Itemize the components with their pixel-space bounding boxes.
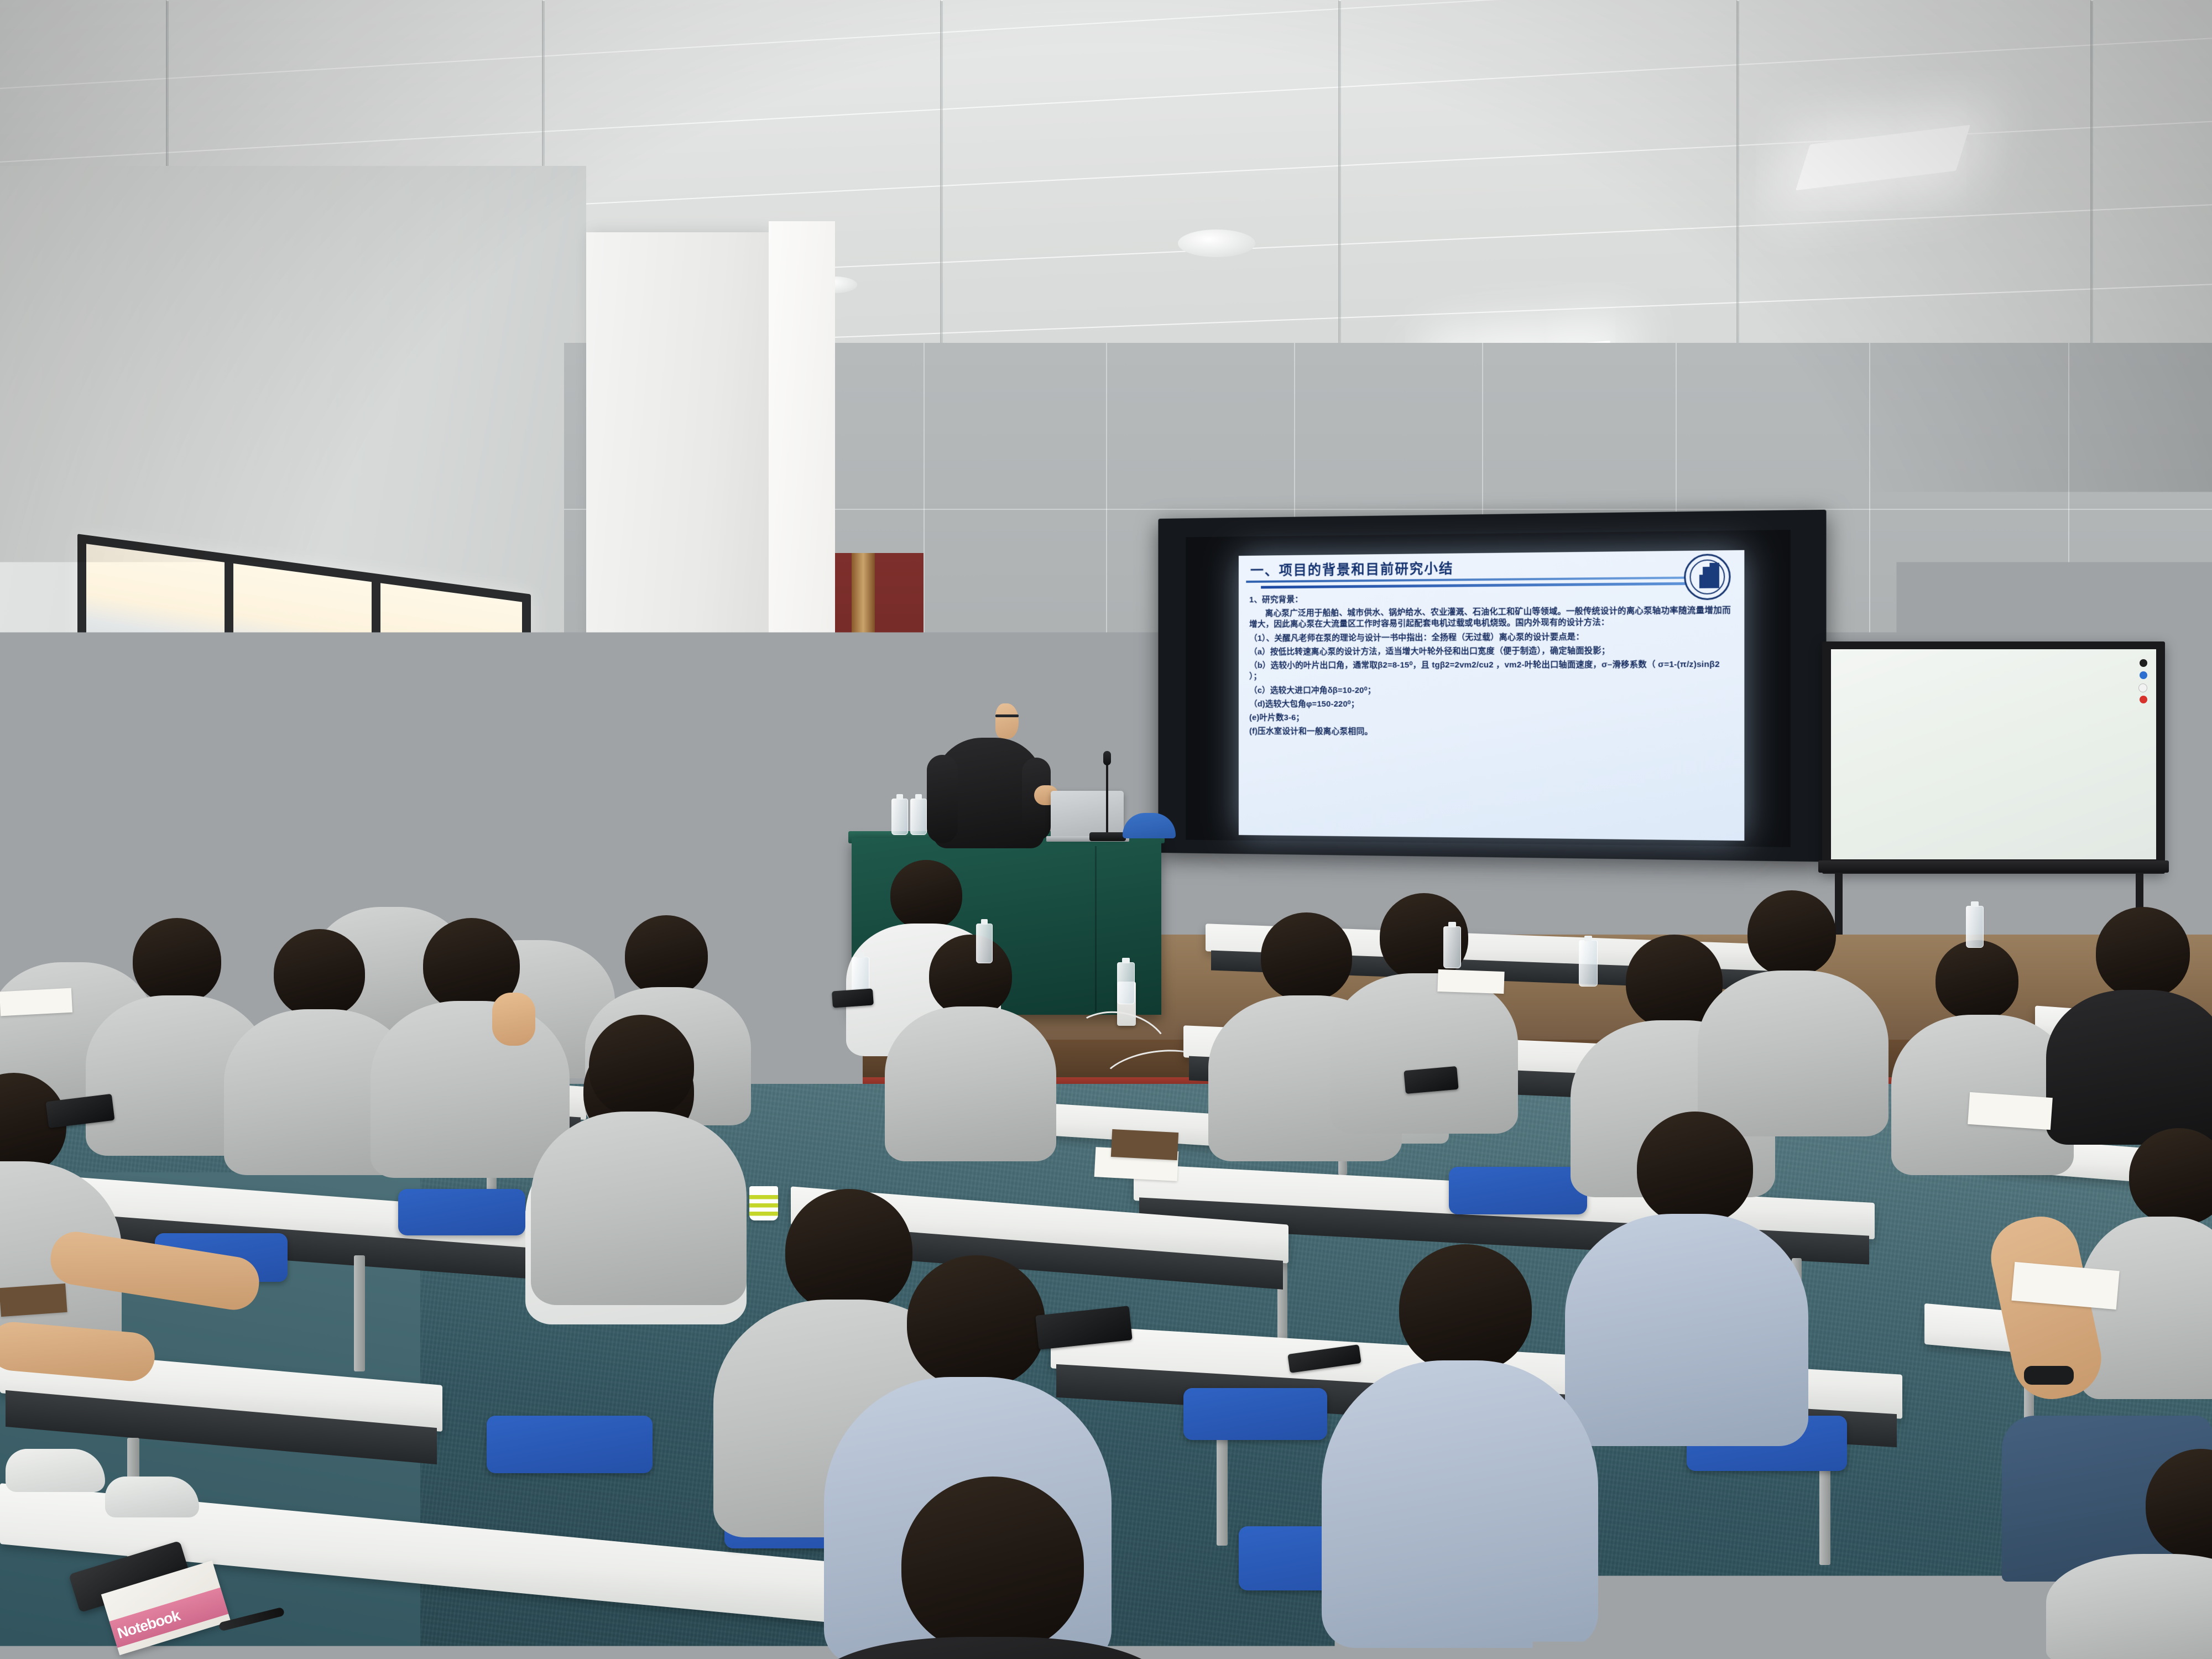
slide-title: 一、项目的背景和目前研究小结 xyxy=(1250,558,1454,580)
person-head xyxy=(2096,907,2190,998)
magnet-icon xyxy=(2140,671,2147,679)
water-bottle xyxy=(1117,962,1135,1004)
slide-point-f: (f)压水室设计和一般离心泵相同。 xyxy=(1249,726,1733,739)
person-torso xyxy=(885,1006,1056,1161)
person-head xyxy=(1399,1244,1532,1373)
water-bottle xyxy=(891,799,908,835)
chair-back[interactable] xyxy=(1183,1388,1327,1440)
person-torso xyxy=(2046,1554,2212,1659)
paper-cup xyxy=(749,1186,778,1220)
person-head xyxy=(589,1015,694,1118)
folder xyxy=(0,1284,67,1317)
shoe xyxy=(6,1449,105,1492)
notepad xyxy=(0,988,72,1016)
person-torso xyxy=(371,1001,570,1178)
person-head xyxy=(785,1189,912,1313)
water-bottle xyxy=(1443,926,1461,968)
shoe xyxy=(420,1288,498,1323)
person-head xyxy=(625,915,708,996)
photo-scene: 一、项目的背景和目前研究小结 1、研究背景： 离心泵广泛用于船舶、城市供水、锅炉… xyxy=(0,0,2212,1659)
desk-leg xyxy=(354,1255,365,1371)
shoe xyxy=(465,1261,536,1293)
whiteboard-marker-tray xyxy=(1818,860,2169,873)
folder xyxy=(1111,1129,1178,1160)
slide-paragraph: （1）、关醒凡老师在泵的理论与设计一书中指出：全扬程（无过载）离心泵的设计要点是… xyxy=(1249,630,1733,644)
person-head xyxy=(929,935,1012,1016)
slide-section-heading: 1、研究背景： xyxy=(1249,591,1733,606)
slide-point-b: （b）选较小的叶片出口角，通常取β2=8-15⁰，且 tgβ2=2vm2/cu2… xyxy=(1249,659,1733,682)
water-bottle xyxy=(976,924,993,963)
chair-back[interactable] xyxy=(487,1416,653,1473)
structural-column-side xyxy=(769,221,835,1228)
microphone-gooseneck xyxy=(1106,763,1108,841)
water-bottle xyxy=(1966,906,1984,948)
slide-point-e: (e)叶片数3-6； xyxy=(1249,712,1733,724)
podium-cloth-fold xyxy=(1095,846,1097,1012)
person-torso xyxy=(1322,1360,1598,1648)
person-head xyxy=(907,1255,1045,1388)
chair-back[interactable] xyxy=(1449,1167,1587,1214)
smartphone[interactable] xyxy=(832,988,874,1008)
magnet-icon xyxy=(2140,659,2147,667)
person-head xyxy=(890,860,962,930)
presenter-arm xyxy=(927,755,958,843)
smartphone[interactable] xyxy=(1404,1066,1458,1094)
microphone-base xyxy=(1089,832,1126,841)
water-bottle xyxy=(1579,940,1598,987)
slide-body: 1、研究背景： 离心泵广泛用于船舶、城市供水、锅炉给水、农业灌溉、石油化工和矿山… xyxy=(1249,591,1733,742)
person-head xyxy=(1637,1112,1753,1225)
smoke-detector xyxy=(1178,229,1255,257)
slide-title-rule-accent xyxy=(1261,582,1694,589)
presentation-slide[interactable]: 一、项目的背景和目前研究小结 1、研究背景： 离心泵广泛用于船舶、城市供水、锅炉… xyxy=(1239,550,1744,841)
person-head xyxy=(0,823,61,889)
slide-point-a: （a）按低比转速离心泵的设计方法，适当增大叶轮外径和出口宽度（便于制造），确定轴… xyxy=(1249,645,1733,658)
person-head xyxy=(1261,912,1352,1001)
person-torso xyxy=(1698,971,1888,1136)
magnet-icon xyxy=(2140,696,2147,703)
whiteboard-surface[interactable] xyxy=(1831,649,2156,859)
person-head xyxy=(228,824,300,895)
microphone-head-icon xyxy=(481,770,488,784)
slide-point-c: （c）选较大进口冲角δβ=10-20⁰； xyxy=(1249,685,1733,696)
person-head xyxy=(274,929,365,1018)
person-head xyxy=(348,841,426,916)
water-bottle xyxy=(910,799,927,835)
person-head xyxy=(1747,890,1836,976)
folded-cloth xyxy=(463,836,552,851)
slide-paragraph: 离心泵广泛用于船舶、城市供水、锅炉给水、农业灌溉、石油化工和矿山等领域。一般传统… xyxy=(1249,605,1733,630)
presenter-face xyxy=(995,703,1019,739)
magnet-icon xyxy=(2138,684,2147,692)
yellow-folder xyxy=(563,801,587,835)
person-hand xyxy=(492,993,535,1046)
laptop-screen[interactable] xyxy=(1051,791,1124,837)
person-torso xyxy=(2046,990,2212,1145)
notepad xyxy=(1968,1092,2053,1130)
person-head xyxy=(1936,940,2018,1020)
person-torso xyxy=(1330,973,1518,1134)
wrist-watch xyxy=(2024,1366,2074,1385)
notepad xyxy=(1437,969,1504,994)
mug xyxy=(437,824,461,847)
person-torso xyxy=(531,1112,747,1305)
shoe xyxy=(105,1477,199,1517)
person-head xyxy=(33,890,111,967)
person-head xyxy=(133,918,221,1004)
presenter-glasses-icon xyxy=(995,714,1019,717)
slide-point-d: （d)选较大包角φ=150-220⁰； xyxy=(1249,699,1733,711)
person-head xyxy=(101,839,170,908)
person-head xyxy=(901,1477,1084,1653)
chair-back[interactable] xyxy=(398,1189,525,1235)
person-torso xyxy=(1565,1214,1808,1446)
microphone-head-icon xyxy=(1103,751,1111,765)
